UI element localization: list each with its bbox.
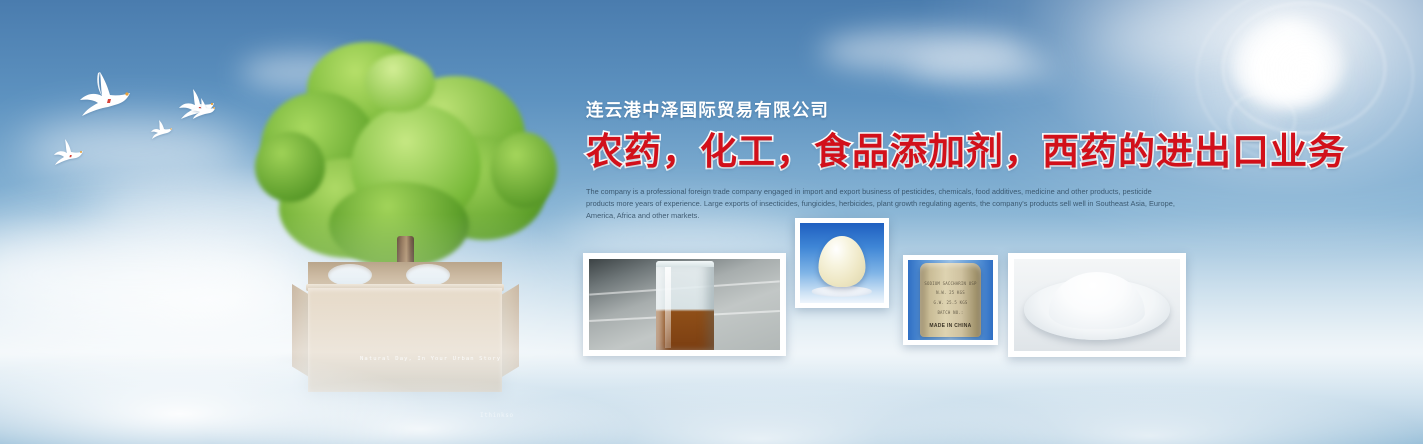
- product-photo-sack-image: SODIUM SACCHARIN USP N.W. 25 KGS G.W. 25…: [908, 260, 993, 340]
- dove-icon: [50, 136, 88, 166]
- cloud-shape: [20, 120, 250, 180]
- company-promo-banner: Natural Day, In Your Urban Story Ithinks…: [0, 0, 1423, 444]
- box-handle-cutout: [328, 264, 372, 286]
- bag-line-3: G.W. 25.5 KGS: [920, 300, 981, 305]
- cloud-shape: [905, 52, 1055, 82]
- copy-block: 连云港中泽国际贸易有限公司 农药，化工，食品添加剂，西药的进出口业务 The c…: [586, 100, 1186, 223]
- powder-mound-white: [1049, 272, 1145, 329]
- box-front-panel: Natural Day, In Your Urban Story Ithinks…: [308, 288, 502, 392]
- headline: 农药，化工，食品添加剂，西药的进出口业务: [586, 132, 1186, 172]
- bag-line-2: N.W. 25 KGS: [920, 290, 981, 295]
- cloud-shape: [820, 30, 1030, 72]
- company-name: 连云港中泽国际贸易有限公司: [586, 100, 1186, 121]
- dove-icon: [175, 85, 219, 121]
- sample-dish: [812, 286, 872, 296]
- dove-icon: [189, 96, 219, 120]
- powder-mound-yellow: [818, 236, 865, 287]
- box-brand-text: Ithinkso: [480, 412, 514, 419]
- product-photo-sack[interactable]: SODIUM SACCHARIN USP N.W. 25 KGS G.W. 25…: [903, 255, 998, 345]
- woven-bag: SODIUM SACCHARIN USP N.W. 25 KGS G.W. 25…: [920, 263, 981, 337]
- cardboard-box: Natural Day, In Your Urban Story Ithinks…: [292, 262, 519, 394]
- product-photo-white-powder[interactable]: [1008, 253, 1186, 357]
- dove-icon: [148, 118, 176, 140]
- product-photo-liquid[interactable]: [583, 253, 786, 356]
- box-handle-cutout: [406, 264, 450, 286]
- box-label-text: Natural Day, In Your Urban Story: [360, 356, 501, 362]
- product-photo-white-powder-image: [1014, 259, 1180, 351]
- bag-line-4: BATCH NO.:: [920, 310, 981, 315]
- glass-vial: [656, 261, 714, 350]
- bag-line-1: SODIUM SACCHARIN USP: [920, 281, 981, 286]
- dove-icon: [72, 66, 138, 118]
- product-photo-yellow-powder-image: [800, 223, 884, 303]
- product-photo-yellow-powder[interactable]: [795, 218, 889, 308]
- product-photo-liquid-image: [589, 259, 780, 350]
- bag-origin-text: MADE IN CHINA: [920, 323, 981, 329]
